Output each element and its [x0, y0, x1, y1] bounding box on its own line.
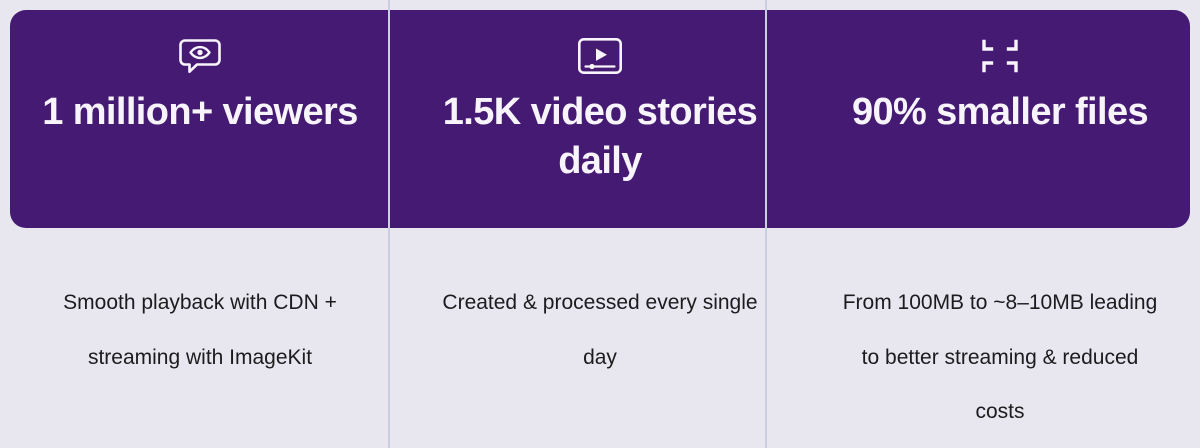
compress-corners-icon: [977, 36, 1023, 76]
stat-card-bottom-video-stories: Created & processed every single day: [400, 228, 800, 448]
stats-columns: 1 million+ viewers Smooth playback with …: [0, 0, 1200, 448]
stat-description: From 100MB to ~8–10MB leading to better …: [835, 276, 1165, 440]
stat-card-top-viewers: 1 million+ viewers: [0, 0, 400, 228]
stat-description: Smooth playback with CDN + streaming wit…: [35, 276, 365, 385]
stat-heading: 1 million+ viewers: [42, 88, 358, 137]
column-divider-1: [388, 0, 390, 448]
stat-card-bottom-viewers: Smooth playback with CDN + streaming wit…: [0, 228, 400, 448]
stat-heading: 90% smaller files: [852, 88, 1148, 137]
stats-board: 1 million+ viewers Smooth playback with …: [0, 0, 1200, 448]
stat-column-video-stories: 1.5K video stories daily Created & proce…: [400, 0, 800, 448]
stat-description: Created & processed every single day: [435, 276, 765, 385]
video-player-icon: [577, 36, 623, 76]
stat-heading: 1.5K video stories daily: [435, 88, 765, 187]
stat-card-bottom-smaller-files: From 100MB to ~8–10MB leading to better …: [800, 228, 1200, 448]
stat-column-viewers: 1 million+ viewers Smooth playback with …: [0, 0, 400, 448]
column-divider-2: [765, 0, 767, 448]
stat-card-top-smaller-files: 90% smaller files: [800, 0, 1200, 228]
stat-card-top-video-stories: 1.5K video stories daily: [400, 0, 800, 228]
speech-bubble-eye-icon: [177, 36, 223, 76]
stat-column-smaller-files: 90% smaller files From 100MB to ~8–10MB …: [800, 0, 1200, 448]
